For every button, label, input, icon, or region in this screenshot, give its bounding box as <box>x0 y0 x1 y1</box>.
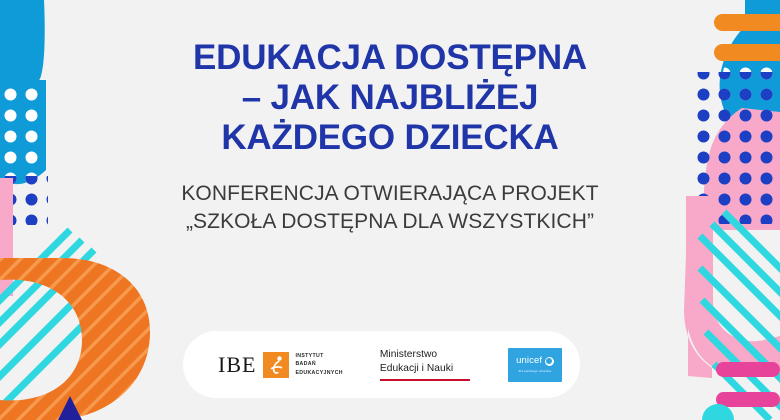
ministry-red-rule <box>380 379 470 381</box>
logo-bar: IBE INSTYTUT BADAŃ EDUKACYJNYCH Minister… <box>183 331 580 398</box>
ministry-line-1: Ministerstwo <box>380 348 470 361</box>
ibe-name-line-3: EDUKACYJNYCH <box>295 370 342 376</box>
logo-ministry: Ministerstwo Edukacji i Nauki <box>380 348 470 381</box>
unicef-tagline: dla każdego dziecka <box>518 369 551 373</box>
ibe-name-line-2: BADAŃ <box>295 361 315 367</box>
logo-unicef: unicef dla każdego dziecka <box>508 348 562 382</box>
right-magenta-pill-1 <box>716 362 780 377</box>
right-orange-pill-1 <box>714 14 780 31</box>
ibe-name-line-1: INSTYTUT <box>295 353 323 359</box>
logo-ibe: IBE INSTYTUT BADAŃ EDUKACYJNYCH <box>218 352 343 378</box>
left-blue-slab <box>0 0 45 90</box>
ibe-full-name: INSTYTUT BADAŃ EDUKACYJNYCH <box>295 352 342 376</box>
ibe-mark-icon <box>263 352 289 378</box>
ministry-line-2: Edukacji i Nauki <box>380 362 470 375</box>
left-orange-arc <box>0 240 180 420</box>
unicef-emblem-icon <box>545 357 554 366</box>
ibe-acronym: IBE <box>218 354 256 376</box>
unicef-wordmark: unicef <box>516 356 553 366</box>
unicef-word: unicef <box>516 356 542 366</box>
poster-canvas: EDUKACJA DOSTĘPNA – JAK NAJBLIŻEJ KAŻDEG… <box>0 0 780 420</box>
right-orange-pill-2 <box>714 44 780 61</box>
right-magenta-pill-2 <box>716 392 780 407</box>
left-blue-dotted-block <box>0 76 53 188</box>
